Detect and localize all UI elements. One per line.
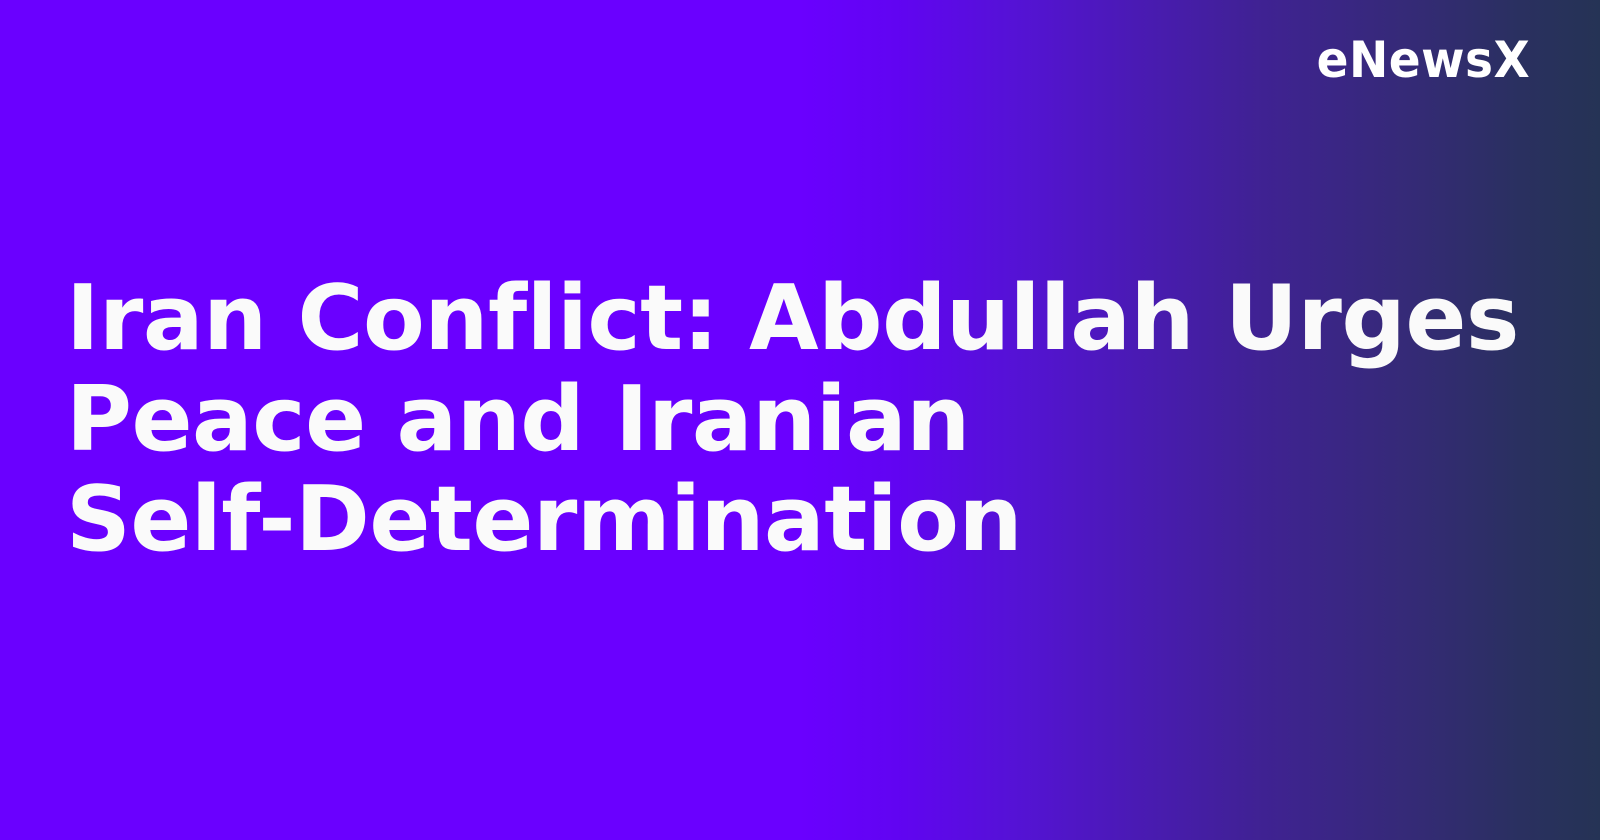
headline-line-1: Iran Conflict: Abdullah Urges [66, 269, 1426, 370]
headline-line-2: Peace and Iranian [66, 370, 1426, 471]
news-headline-card: eNewsX Iran Conflict: Abdullah Urges Pea… [0, 0, 1600, 840]
headline-block: Iran Conflict: Abdullah Urges Peace and … [66, 0, 1466, 840]
headline-line-3: Self-Determination [66, 470, 1426, 571]
page-title: Iran Conflict: Abdullah Urges Peace and … [66, 269, 1426, 571]
